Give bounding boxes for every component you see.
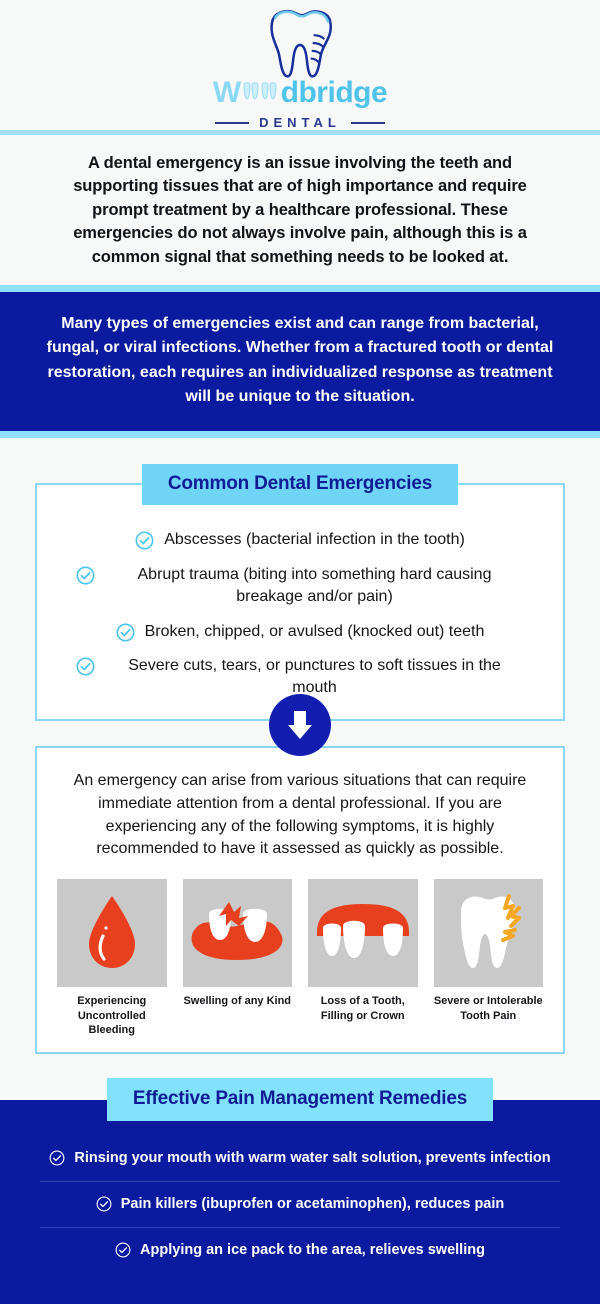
symptoms-card: An emergency can arise from various situ… (35, 746, 565, 1054)
banner-paragraph: Many types of emergencies exist and can … (0, 292, 600, 431)
check-circle-icon (115, 1242, 131, 1258)
swollen-gums-icon (185, 896, 289, 970)
banner-bottom-strip (0, 431, 600, 438)
symptom-image (57, 879, 167, 987)
symptom-image (183, 879, 293, 987)
symptom-tile: Swelling of any Kind (183, 879, 293, 1038)
list-item-label: Pain killers (ibuprofen or acetaminophen… (121, 1195, 505, 1214)
symptom-caption: Swelling of any Kind (183, 994, 291, 1009)
logo-subtitle-row: DENTAL (215, 115, 385, 130)
remedies-list: Rinsing your mouth with warm water salt … (40, 1136, 560, 1273)
logo-wordmark: W dbridge (213, 78, 387, 108)
emergencies-list: Abscesses (bacterial infection in the to… (59, 527, 541, 699)
list-item-label: Rinsing your mouth with warm water salt … (74, 1149, 550, 1168)
logo-teeth-glyph (241, 81, 281, 103)
check-circle-icon (135, 531, 154, 550)
arrow-down-wrap (0, 694, 600, 756)
banner-top-strip (0, 285, 600, 292)
list-item: Abrupt trauma (biting into something har… (59, 564, 541, 608)
remedies-panel: Rinsing your mouth with warm water salt … (0, 1100, 600, 1304)
symptom-image (434, 879, 544, 987)
check-circle-icon (49, 1150, 65, 1166)
check-circle-icon (76, 657, 95, 676)
symptom-tiles: Experiencing Uncontrolled Bleeding Swell… (57, 879, 543, 1038)
remedies-section: Effective Pain Management Remedies Rinsi… (0, 1078, 600, 1304)
arrow-down-icon (283, 708, 317, 742)
infographic-page: W dbridge DENTAL A dental emergency is a… (0, 0, 600, 1301)
check-circle-icon (96, 1196, 112, 1212)
emergencies-badge-wrap: Common Dental Emergencies (0, 464, 600, 505)
list-item-label: Abscesses (bacterial infection in the to… (164, 529, 465, 551)
logo-word-second: dbridge (281, 78, 388, 108)
list-item-label: Severe cuts, tears, or punctures to soft… (105, 655, 525, 699)
logo-rule-right (351, 122, 385, 124)
tooth-pain-icon (443, 888, 533, 978)
arrow-down-circle (269, 694, 331, 756)
symptom-tile: Severe or Intolerable Tooth Pain (434, 879, 544, 1038)
symptom-caption: Experiencing Uncontrolled Bleeding (57, 994, 167, 1038)
tooth-icon (252, 6, 348, 80)
blood-drop-icon (81, 890, 143, 976)
symptom-image (308, 879, 418, 987)
symptoms-paragraph: An emergency can arise from various situ… (57, 770, 543, 862)
emergencies-section: Common Dental Emergencies Abscesses (bac… (0, 438, 600, 721)
logo-rule-left (215, 122, 249, 124)
list-item: Pain killers (ibuprofen or acetaminophen… (40, 1181, 560, 1227)
symptom-tile: Experiencing Uncontrolled Bleeding (57, 879, 167, 1038)
logo-subtitle: DENTAL (259, 115, 341, 130)
intro-paragraph: A dental emergency is an issue involving… (0, 135, 600, 285)
logo-word-first: W (213, 78, 241, 108)
list-item-label: Applying an ice pack to the area, reliev… (140, 1241, 485, 1260)
missing-tooth-icon (311, 902, 415, 964)
remedies-heading: Effective Pain Management Remedies (107, 1078, 493, 1121)
check-circle-icon (76, 566, 95, 585)
list-item-label: Broken, chipped, or avulsed (knocked out… (145, 621, 485, 643)
list-item-label: Abrupt trauma (biting into something har… (105, 564, 525, 608)
check-circle-icon (116, 623, 135, 642)
logo-header: W dbridge DENTAL (0, 0, 600, 130)
emergencies-card: Abscesses (bacterial infection in the to… (35, 483, 565, 721)
list-item: Severe cuts, tears, or punctures to soft… (59, 655, 541, 699)
list-item: Applying an ice pack to the area, reliev… (40, 1227, 560, 1273)
list-item: Rinsing your mouth with warm water salt … (40, 1136, 560, 1181)
symptom-caption: Loss of a Tooth, Filling or Crown (308, 994, 418, 1023)
list-item: Abscesses (bacterial infection in the to… (59, 529, 541, 551)
list-item: Broken, chipped, or avulsed (knocked out… (59, 621, 541, 643)
symptom-tile: Loss of a Tooth, Filling or Crown (308, 879, 418, 1038)
symptom-caption: Severe or Intolerable Tooth Pain (434, 994, 544, 1023)
remedies-badge-wrap: Effective Pain Management Remedies (0, 1078, 600, 1121)
emergencies-heading: Common Dental Emergencies (142, 464, 458, 505)
